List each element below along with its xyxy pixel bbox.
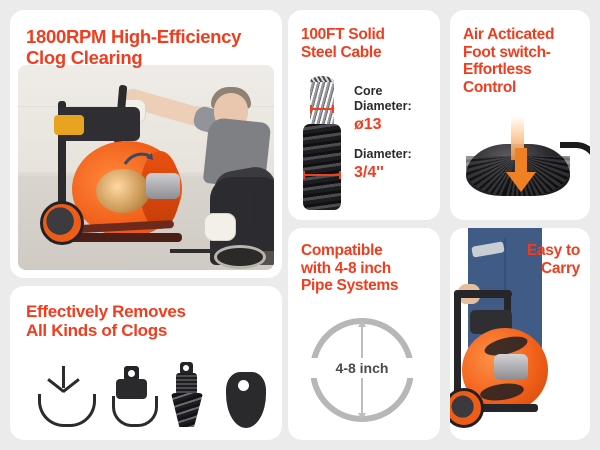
machine-handle-grip [456, 290, 512, 298]
card-clog-tools-headline: Effectively Removes All Kinds of Clogs [26, 302, 186, 341]
spade-cutter-tool-icon [110, 366, 154, 428]
steel-cable-specs: Core Diameter: ø13 Diameter: 3/4'' [354, 84, 438, 182]
card-foot-switch: Air Acticated Foot switch- Effortless Co… [450, 10, 590, 220]
core-diameter-value: ø13 [354, 115, 438, 134]
card-steel-cable: 100FT Solid Steel Cable Core Diameter: ø… [288, 10, 440, 220]
card-pipe-compatibility-headline: Compatible with 4-8 inch Pipe Systems [301, 242, 398, 295]
retriever-tool-icon [36, 366, 92, 428]
cable-core [310, 82, 334, 130]
diameter-value: 3/4'' [354, 163, 438, 182]
card-easy-to-carry: Easy to Carry [450, 228, 590, 440]
card-clog-clearing: 1800RPM High-Efficiency Clog Clearing [10, 10, 282, 278]
rotation-arrow-icon [124, 151, 154, 167]
foot-switch-illustration [450, 122, 590, 214]
operator-glove-lower [204, 213, 236, 241]
machine-hub [96, 169, 150, 213]
core-diameter-marker [310, 108, 334, 110]
spring-auger-tool-icon [168, 362, 208, 428]
floor-drain [214, 245, 266, 269]
machine-motor-cover [54, 115, 84, 135]
card-easy-to-carry-headline: Easy to Carry [527, 242, 580, 277]
clog-clearing-photo [18, 65, 274, 270]
card-pipe-compatibility: Compatible with 4-8 inch Pipe Systems 4-… [288, 228, 440, 440]
cable-coil [303, 124, 341, 210]
card-clog-tools: Effectively Removes All Kinds of Clogs [10, 286, 282, 440]
machine-wheel [450, 388, 484, 428]
machine-chuck [494, 354, 528, 380]
spec-divider [354, 134, 438, 147]
card-foot-switch-headline: Air Acticated Foot switch- Effortless Co… [463, 26, 554, 97]
card-clog-clearing-headline: 1800RPM High-Efficiency Clog Clearing [26, 26, 272, 68]
flat-blade-tool-icon [224, 372, 268, 428]
tool-list [32, 358, 268, 428]
outer-diameter-marker [303, 174, 341, 176]
core-diameter-label: Core Diameter: [354, 84, 438, 114]
infographic-board: 1800RPM High-Efficiency Clog Clearing [0, 0, 600, 450]
steel-cable-illustration [300, 82, 346, 210]
machine-wheel [40, 201, 84, 245]
diameter-label: Diameter: [354, 147, 438, 162]
pipe-diameter-label: 4-8 inch [310, 358, 414, 378]
machine-handle-left [454, 290, 461, 398]
card-steel-cable-headline: 100FT Solid Steel Cable [301, 26, 385, 61]
